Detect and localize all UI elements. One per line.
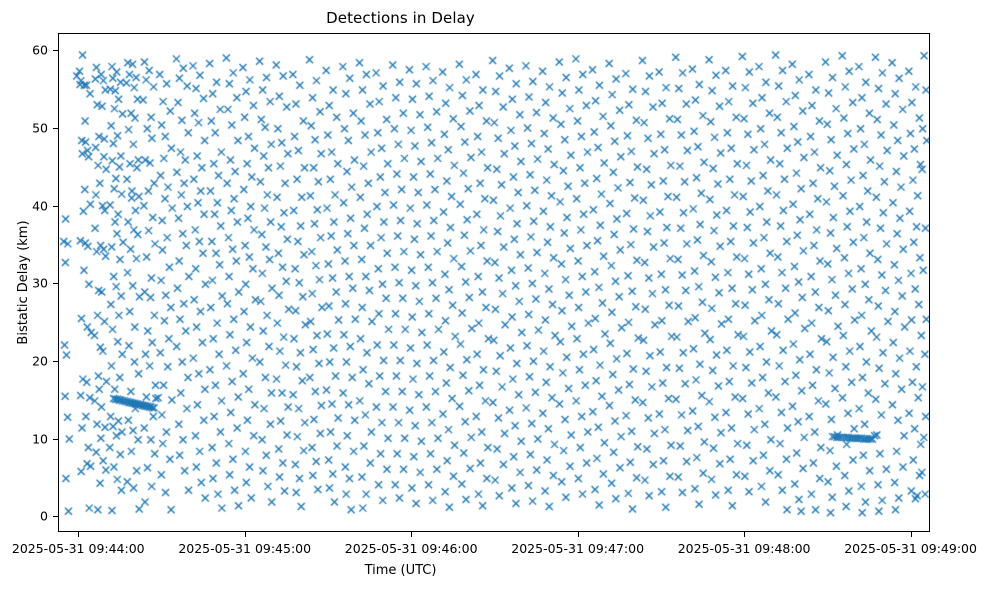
scatter-points-layer: [59, 34, 930, 532]
x-axis-label: Time (UTC): [0, 563, 894, 578]
y-tick-label: 30: [32, 276, 48, 291]
y-tick-mark: [53, 50, 58, 51]
x-tick-mark: [245, 532, 246, 537]
y-tick-mark: [53, 283, 58, 284]
x-tick-label: 2025-05-31 09:45:00: [178, 541, 311, 556]
y-axis-label: Bistatic Delay (km): [14, 33, 34, 532]
x-tick-mark: [578, 532, 579, 537]
x-tick-mark: [411, 532, 412, 537]
x-tick-mark: [78, 532, 79, 537]
x-axis-ticks: 2025-05-31 09:44:002025-05-31 09:45:0020…: [0, 532, 987, 590]
x-tick-mark: [911, 532, 912, 537]
y-tick-mark: [53, 361, 58, 362]
plot-area[interactable]: [58, 33, 930, 532]
y-tick-label: 40: [32, 198, 48, 213]
y-tick-mark: [53, 206, 58, 207]
x-tick-label: 2025-05-31 09:49:00: [844, 541, 977, 556]
x-tick-label: 2025-05-31 09:47:00: [511, 541, 644, 556]
y-tick-mark: [53, 128, 58, 129]
x-tick-label: 2025-05-31 09:46:00: [345, 541, 478, 556]
chart-title: Detections in Delay: [0, 9, 894, 27]
x-tick-mark: [744, 532, 745, 537]
y-tick-label: 50: [32, 120, 48, 135]
x-tick-label: 2025-05-31 09:44:00: [12, 541, 145, 556]
x-tick-label: 2025-05-31 09:48:00: [678, 541, 811, 556]
y-tick-label: 60: [32, 43, 48, 58]
y-tick-label: 10: [32, 431, 48, 446]
y-tick-label: 20: [32, 354, 48, 369]
figure-canvas: Detections in Delay 0102030405060 2025-0…: [0, 0, 987, 590]
y-tick-mark: [53, 439, 58, 440]
y-tick-label: 0: [40, 509, 48, 524]
y-tick-mark: [53, 516, 58, 517]
